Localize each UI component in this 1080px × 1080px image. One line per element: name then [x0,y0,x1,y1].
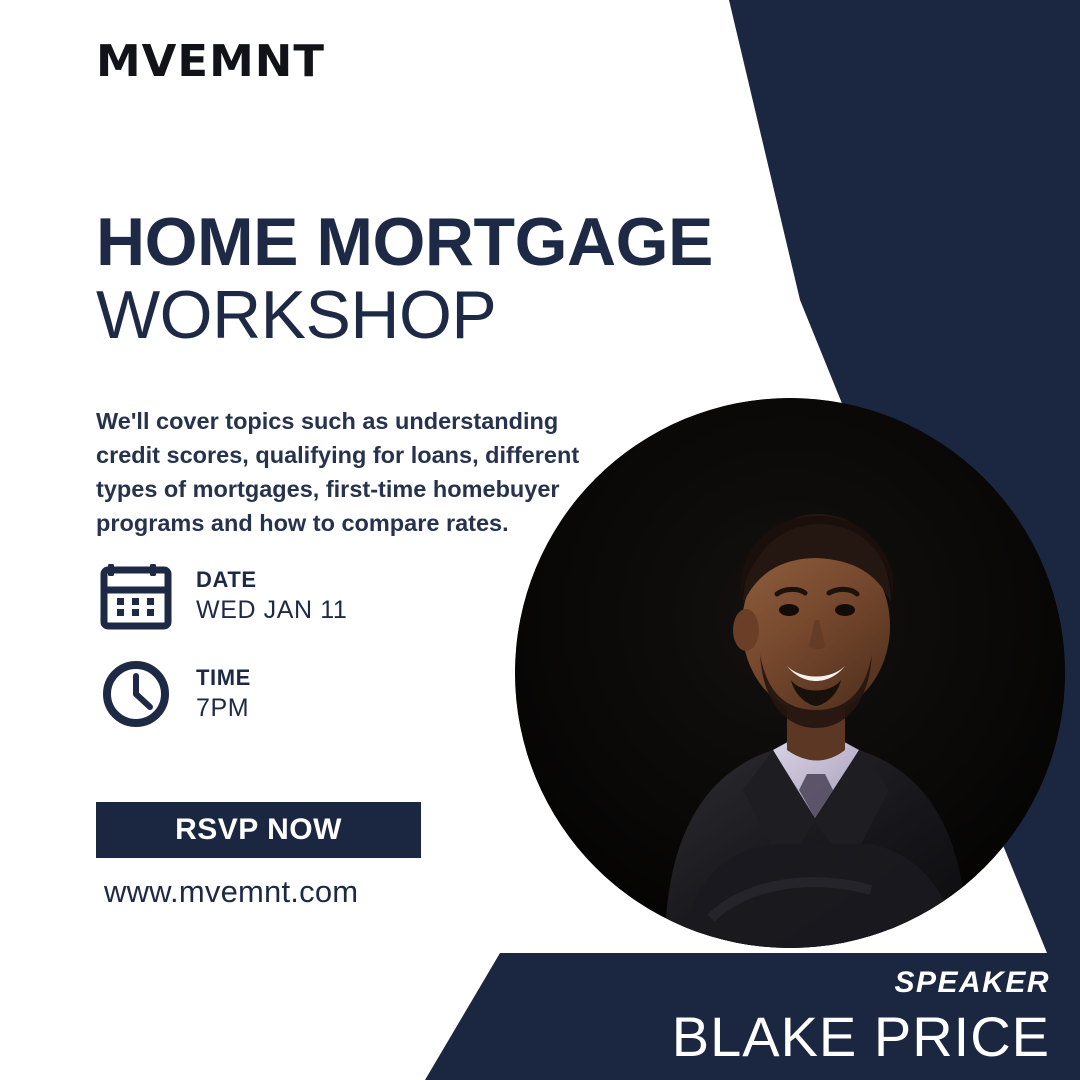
detail-value-date: WED JAN 11 [196,596,347,625]
intro-paragraph: We'll cover topics such as understanding… [96,404,596,540]
speaker-photo [515,398,1065,948]
speaker-portrait-illustration [515,398,1065,948]
detail-label-date: DATE [196,567,347,592]
detail-text-date: DATE WED JAN 11 [196,567,347,624]
page-title: HOME MORTGAGE WORKSHOP [96,209,796,348]
detail-row-time: TIME 7PM [100,658,251,730]
detail-value-time: 7PM [196,694,251,723]
detail-row-date: DATE WED JAN 11 [100,560,347,632]
speaker-block: SPEAKER BLAKE PRICE [672,968,1050,1068]
headline-line-1: HOME MORTGAGE [96,209,796,276]
rsvp-button[interactable]: RSVP NOW [96,802,421,858]
website-url[interactable]: www.mvemnt.com [104,874,358,910]
headline-line-2: WORKSHOP [96,282,796,349]
flyer-poster: MVEMNT HOME MORTGAGE WORKSHOP We'll cove… [0,0,1080,1080]
detail-label-time: TIME [196,665,251,690]
speaker-role-label: SPEAKER [672,968,1050,998]
detail-text-time: TIME 7PM [196,665,251,722]
brand-logo[interactable]: MVEMNT [96,40,325,84]
clock-icon [100,658,172,730]
speaker-name: BLAKE PRICE [672,1006,1050,1068]
calendar-icon [100,560,172,632]
